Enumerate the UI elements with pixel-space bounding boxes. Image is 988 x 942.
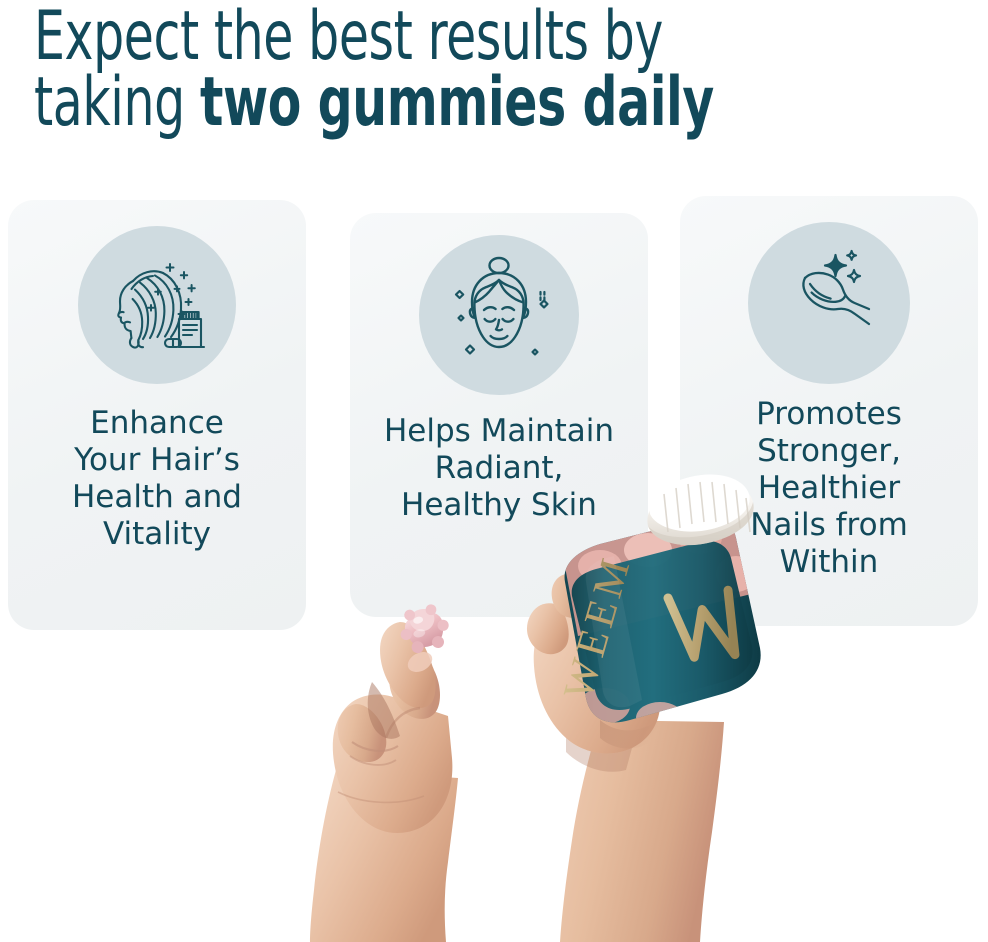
card-nails-line-3: Healthier [688,470,970,507]
fingernail-sparkle-icon [765,239,893,367]
headline-line-2-regular: taking [34,63,200,142]
card-skin-line-1: Helps Maintain [358,413,640,450]
icon-circle-skin [419,235,579,395]
icon-circle-hair [78,226,236,384]
headline-line-1: Expect the best results by [34,4,778,70]
radiant-face-icon [436,252,562,378]
benefit-card-nails: Promotes Stronger, Healthier Nails from … [680,196,978,626]
card-nails-line-2: Stronger, [688,433,970,470]
card-nails-line-1: Promotes [688,396,970,433]
page-headline: Expect the best results by taking two gu… [34,4,778,136]
icon-circle-nails [748,222,910,384]
card-hair-line-4: Vitality [16,516,298,553]
card-text-skin: Helps Maintain Radiant, Healthy Skin [350,413,648,524]
card-hair-line-3: Health and [16,479,298,516]
card-hair-line-1: Enhance [16,405,298,442]
card-text-hair: Enhance Your Hair’s Health and Vitality [8,405,306,553]
benefit-card-skin: Helps Maintain Radiant, Healthy Skin [350,213,648,617]
card-skin-line-3: Healthy Skin [358,487,640,524]
card-skin-line-2: Radiant, [358,450,640,487]
card-nails-line-5: Within [688,544,970,581]
card-nails-line-4: Nails from [688,507,970,544]
card-text-nails: Promotes Stronger, Healthier Nails from … [680,396,978,581]
headline-line-2: taking two gummies daily [34,70,778,136]
left-hand-holding-gummy [310,622,458,942]
benefit-card-hair: Enhance Your Hair’s Health and Vitality [8,200,306,630]
hair-profile-supplement-icon [95,243,219,367]
headline-emphasis: two gummies daily [200,63,714,142]
product-benefits-graphic: Expect the best results by taking two gu… [0,0,988,942]
card-hair-line-2: Your Hair’s [16,442,298,479]
